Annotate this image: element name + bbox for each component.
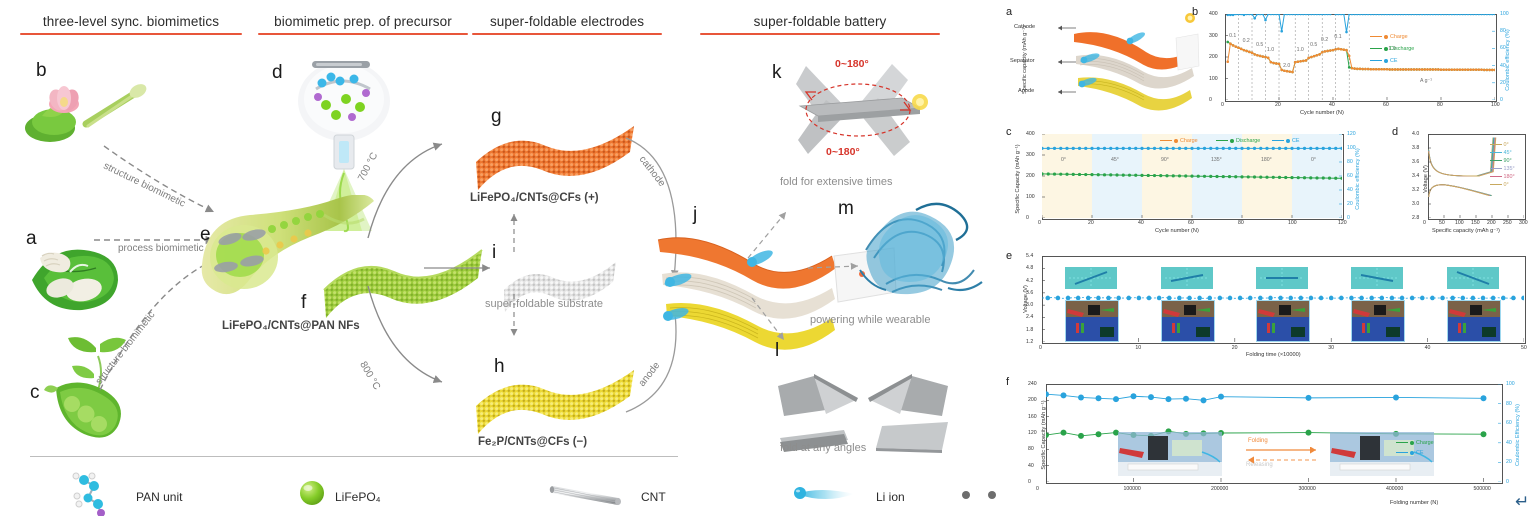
axis-tick: 100	[1209, 76, 1218, 82]
legend-entry: CE	[1272, 138, 1300, 144]
axis-tick: 3.2	[1412, 187, 1419, 193]
legend-entry: 90°	[1490, 158, 1512, 164]
axis-tick: 100	[1455, 220, 1464, 226]
panel-b-xlabel: Cycle number (N)	[1300, 110, 1344, 116]
axis-tick: 40	[1425, 345, 1431, 351]
fold-angle-band-label: 90°	[1161, 157, 1169, 163]
axis-tick: 100	[1491, 102, 1500, 108]
fold-angle-band-label: 180°	[1261, 157, 1272, 163]
folding-label: Folding	[1248, 438, 1268, 444]
legend-entry: 45°	[1490, 150, 1512, 156]
panel-c-y2label: Coulombic efficiency (%)	[1355, 119, 1361, 239]
charts-panel: a Cathode Separator	[1000, 0, 1540, 530]
decorative-dot-1	[962, 491, 970, 499]
panel-b-y2label: Coulombic efficiency (%)	[1505, 0, 1511, 120]
legend-item-li-ion: Li ion	[876, 490, 905, 504]
axis-tick: 20	[1232, 345, 1238, 351]
axis-tick: 300000	[1299, 486, 1316, 492]
axis-tick: 50	[1439, 220, 1445, 226]
panel-a-label-leaders	[1028, 20, 1088, 106]
section-header-3-label: super-foldable electrodes	[472, 14, 662, 33]
figure-root: three-level sync. biomimetics biomimetic…	[0, 0, 1540, 530]
axis-tick: 80	[1238, 220, 1244, 226]
fold-angle-band-label: 45°	[1111, 157, 1119, 163]
legend-item-cnt: CNT	[641, 490, 666, 504]
axis-tick: 120	[1347, 131, 1356, 137]
panel-f-xlabel: Folding number (N)	[1390, 500, 1438, 506]
panel-b-series	[1225, 14, 1495, 100]
axis-tick: 0	[1026, 215, 1029, 221]
return-key-glyph: ↵	[1515, 492, 1529, 512]
axis-tick: 100	[1288, 220, 1297, 226]
axis-tick: 4.8	[1026, 265, 1033, 271]
axis-tick: 400	[1209, 11, 1218, 17]
axis-tick: 10	[1135, 345, 1141, 351]
rate-annotation: 0.5	[1310, 42, 1317, 48]
legend-entry: Charge	[1370, 34, 1408, 40]
axis-tick: 40	[1506, 440, 1512, 446]
anode-caption: Fe₂P/CNTs@CFs (−)	[478, 436, 587, 448]
section-header-1-rule	[20, 33, 242, 35]
axis-tick: 40	[1138, 220, 1144, 226]
section-header-4-label: super-foldable battery	[700, 14, 940, 33]
fold-angle-diagram-inset	[1351, 267, 1403, 289]
arrow-label-process: process biomimetic	[118, 243, 204, 254]
axis-tick: 40	[1329, 102, 1335, 108]
axis-tick: 0	[1347, 215, 1350, 221]
axis-tick: 200	[1487, 220, 1496, 226]
axis-tick: 300	[1209, 33, 1218, 39]
panel-a-letter: a	[1006, 6, 1012, 18]
axis-tick: 120	[1028, 430, 1037, 436]
folding-device-photo	[1118, 432, 1222, 476]
panel-d-ylabel: Voltage (V)	[1423, 149, 1429, 209]
axis-tick: 0	[1028, 479, 1031, 485]
schematic-panel: three-level sync. biomimetics biomimetic…	[0, 0, 1000, 530]
panel-b-letter: b	[1192, 6, 1198, 18]
rate-annotation: 0.1	[1229, 33, 1236, 39]
panel-c-letter: c	[1006, 126, 1012, 138]
panel-c-series	[1042, 134, 1342, 218]
panel-b-unit-annotation: A g⁻¹	[1420, 78, 1432, 84]
axis-tick: 4.2	[1026, 278, 1033, 284]
axis-tick: 80	[1347, 159, 1353, 165]
decorative-dot-2	[988, 491, 996, 499]
fold-angle-top-label: 0~180°	[835, 58, 869, 70]
axis-tick: 150	[1471, 220, 1480, 226]
axis-tick: 1.8	[1026, 327, 1033, 333]
lifepo4-sphere-icon	[297, 478, 327, 508]
axis-tick: 400000	[1386, 486, 1403, 492]
axis-tick: 200	[1028, 397, 1037, 403]
axis-tick: 250	[1503, 220, 1512, 226]
panel-letter-k: k	[772, 62, 782, 84]
legend-item-lifepo4: LiFePO₄	[335, 490, 381, 504]
axis-tick: 60	[1347, 173, 1353, 179]
legend-entry: Charge	[1396, 440, 1434, 446]
axis-tick: 80	[1500, 28, 1506, 34]
axis-tick: 20	[1088, 220, 1094, 226]
section-header-4: super-foldable battery	[700, 14, 940, 35]
panel-c-xlabel: Cycle number (N)	[1155, 228, 1199, 234]
folding-test-photo	[1447, 300, 1501, 342]
section-header-4-rule	[700, 33, 940, 35]
axis-tick: 120	[1338, 220, 1347, 226]
panel-d-letter: d	[1392, 126, 1398, 138]
legend-item-lifepo4-label: LiFePO₄	[335, 490, 381, 504]
legend-divider	[30, 456, 678, 457]
folding-test-photo	[1065, 300, 1119, 342]
panel-d-xlabel: Specific capacity (mAh g⁻¹)	[1432, 228, 1500, 234]
folding-test-photo	[1351, 300, 1405, 342]
legend-entry: Discharge	[1370, 46, 1414, 52]
substrate-arrows	[420, 190, 580, 390]
axis-tick: 0	[1506, 479, 1509, 485]
axis-tick: 4.0	[1412, 131, 1419, 137]
axis-tick: 20	[1347, 201, 1353, 207]
axis-tick: 0	[1221, 102, 1224, 108]
axis-tick: 60	[1188, 220, 1194, 226]
fold-angle-bottom-label: 0~180°	[826, 146, 860, 158]
axis-tick: 40	[1500, 63, 1506, 69]
rate-annotation: 1.0	[1267, 47, 1274, 53]
fold-angle-band-label: 135°	[1211, 157, 1222, 163]
axis-tick: 100000	[1124, 486, 1141, 492]
axis-tick: 20	[1506, 459, 1512, 465]
axis-tick: 100	[1500, 11, 1509, 17]
panel-c-ylabel: Specific Capacity (mAh g⁻¹)	[1015, 119, 1021, 239]
axis-tick: 80	[1028, 446, 1034, 452]
legend-entry: 135°	[1490, 166, 1515, 172]
axis-tick: 160	[1028, 414, 1037, 420]
releasing-label: Releasing	[1246, 462, 1273, 468]
legend-entry: 180°	[1490, 174, 1515, 180]
axis-tick: 0	[1500, 97, 1503, 103]
section-header-3-rule	[472, 33, 662, 35]
legend-entry: 0°	[1490, 142, 1509, 148]
axis-tick: 60	[1506, 420, 1512, 426]
axis-tick: 300	[1519, 220, 1528, 226]
axis-tick: 80	[1437, 102, 1443, 108]
fold-angles-illustration	[770, 364, 960, 454]
axis-tick: 40	[1028, 463, 1034, 469]
axis-tick: 2.4	[1026, 314, 1033, 320]
axis-tick: 20	[1500, 80, 1506, 86]
li-ion-icon	[790, 480, 860, 508]
section-header-2: biomimetic prep. of precursor	[258, 14, 468, 35]
fold-angle-diagram-inset	[1447, 267, 1499, 289]
axis-tick: 1.2	[1026, 339, 1033, 345]
panel-e-letter: e	[1006, 250, 1012, 262]
fold-angles-caption: fold at any angles	[780, 442, 866, 454]
panel-f-y2label: Coulombic Efficiency (%)	[1515, 375, 1521, 495]
fold-angle-band-label: 0°	[1061, 157, 1066, 163]
axis-tick: 3.8	[1412, 145, 1419, 151]
panel-b-ylabel: Specific capacity (mAh g⁻¹)	[1022, 0, 1028, 120]
axis-tick: 3.4	[1412, 173, 1419, 179]
axis-tick: 500000	[1474, 486, 1491, 492]
axis-tick: 100	[1026, 194, 1035, 200]
axis-tick: 60	[1500, 45, 1506, 51]
pan-molecule-icon	[70, 470, 114, 516]
cathode-mesh	[470, 118, 640, 194]
axis-tick: 20	[1275, 102, 1281, 108]
legend-item-pan-unit: PAN unit	[136, 490, 182, 504]
panel-f-ylabel: Specific Capacity (mAh g⁻¹)	[1041, 375, 1047, 495]
axis-tick: 3.0	[1412, 201, 1419, 207]
panel-letter-d: d	[272, 62, 283, 84]
axis-tick: 40	[1347, 187, 1353, 193]
panel-f-letter: f	[1006, 376, 1009, 388]
axis-tick: 0	[1423, 220, 1426, 226]
fold-angle-diagram-inset	[1065, 267, 1117, 289]
axis-tick: 100	[1347, 145, 1356, 151]
section-header-2-rule	[258, 33, 468, 35]
axis-tick: 30	[1328, 345, 1334, 351]
fold-angle-diagram-inset	[1256, 267, 1308, 289]
battery-application-arrows	[740, 178, 870, 368]
legend-entry: Discharge	[1216, 138, 1260, 144]
axis-tick: 5.4	[1026, 253, 1033, 259]
axis-tick: 3.6	[1026, 290, 1033, 296]
axis-tick: 200	[1026, 173, 1035, 179]
folding-test-photo	[1256, 300, 1310, 342]
axis-tick: 200000	[1211, 486, 1228, 492]
section-header-1: three-level sync. biomimetics	[20, 14, 242, 35]
folding-test-photo	[1161, 300, 1215, 342]
axis-tick: 0	[1039, 345, 1042, 351]
axis-tick: 200	[1209, 54, 1218, 60]
axis-tick: 80	[1506, 401, 1512, 407]
section-header-1-label: three-level sync. biomimetics	[20, 14, 242, 33]
fold-angle-band-label: 0°	[1311, 157, 1316, 163]
cnt-tube-icon	[548, 480, 628, 510]
rate-annotation: 0.1	[1334, 34, 1341, 40]
rate-annotation: 1.0	[1297, 47, 1304, 53]
axis-tick: 300	[1026, 152, 1035, 158]
legend-entry: Charge	[1160, 138, 1198, 144]
axis-tick: 60	[1383, 102, 1389, 108]
section-header-2-label: biomimetic prep. of precursor	[258, 14, 468, 33]
rate-annotation: 0.2	[1321, 37, 1328, 43]
axis-tick: 3.0	[1026, 302, 1033, 308]
rate-annotation: 0.5	[1256, 42, 1263, 48]
axis-tick: 0	[1036, 486, 1039, 492]
axis-tick: 50	[1521, 345, 1527, 351]
fold-angle-diagram-inset	[1161, 267, 1213, 289]
panel-e-xlabel: Folding time (×10000)	[1246, 352, 1301, 358]
axis-tick: 3.6	[1412, 159, 1419, 165]
wearable-illustration	[856, 192, 996, 322]
section-header-3: super-foldable electrodes	[472, 14, 662, 35]
rate-annotation: 0.2	[1243, 38, 1250, 44]
legend-entry: CE	[1396, 450, 1424, 456]
axis-tick: 2.8	[1412, 215, 1419, 221]
legend-entry: 0°	[1490, 182, 1509, 188]
axis-tick: 0	[1209, 97, 1212, 103]
legend-entry: CE	[1370, 58, 1398, 64]
axis-tick: 400	[1026, 131, 1035, 137]
axis-tick: 0	[1038, 220, 1041, 226]
anode-caption-label: Fe₂P/CNTs@CFs (−)	[478, 436, 587, 448]
axis-tick: 100	[1506, 381, 1515, 387]
rate-annotation: 2.0	[1283, 63, 1290, 69]
axis-tick: 240	[1028, 381, 1037, 387]
